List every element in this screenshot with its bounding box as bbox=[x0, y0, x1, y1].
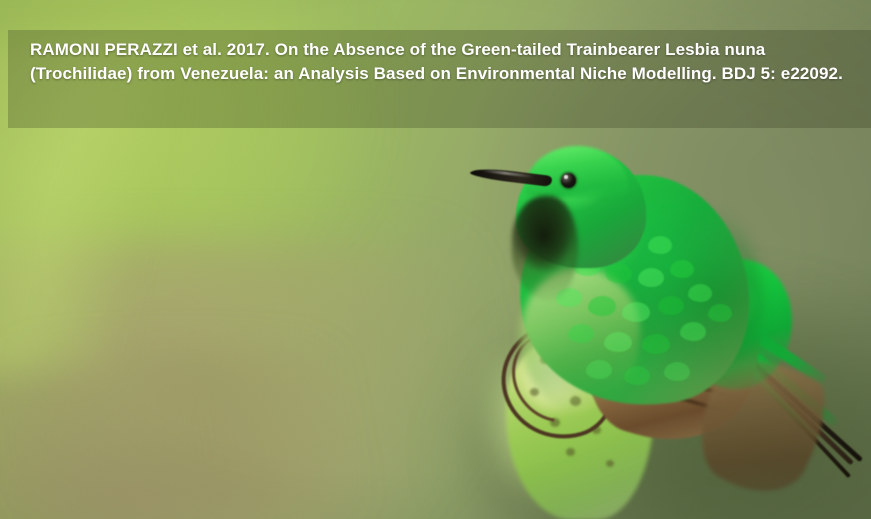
screenshot-root: RAMONI PERAZZI et al. 2017. On the Absen… bbox=[0, 0, 871, 519]
eye-glint bbox=[564, 175, 568, 179]
throat-gorget bbox=[512, 196, 578, 300]
citation-text: RAMONI PERAZZI et al. 2017. On the Absen… bbox=[30, 38, 860, 86]
caption-band: RAMONI PERAZZI et al. 2017. On the Absen… bbox=[8, 30, 871, 128]
